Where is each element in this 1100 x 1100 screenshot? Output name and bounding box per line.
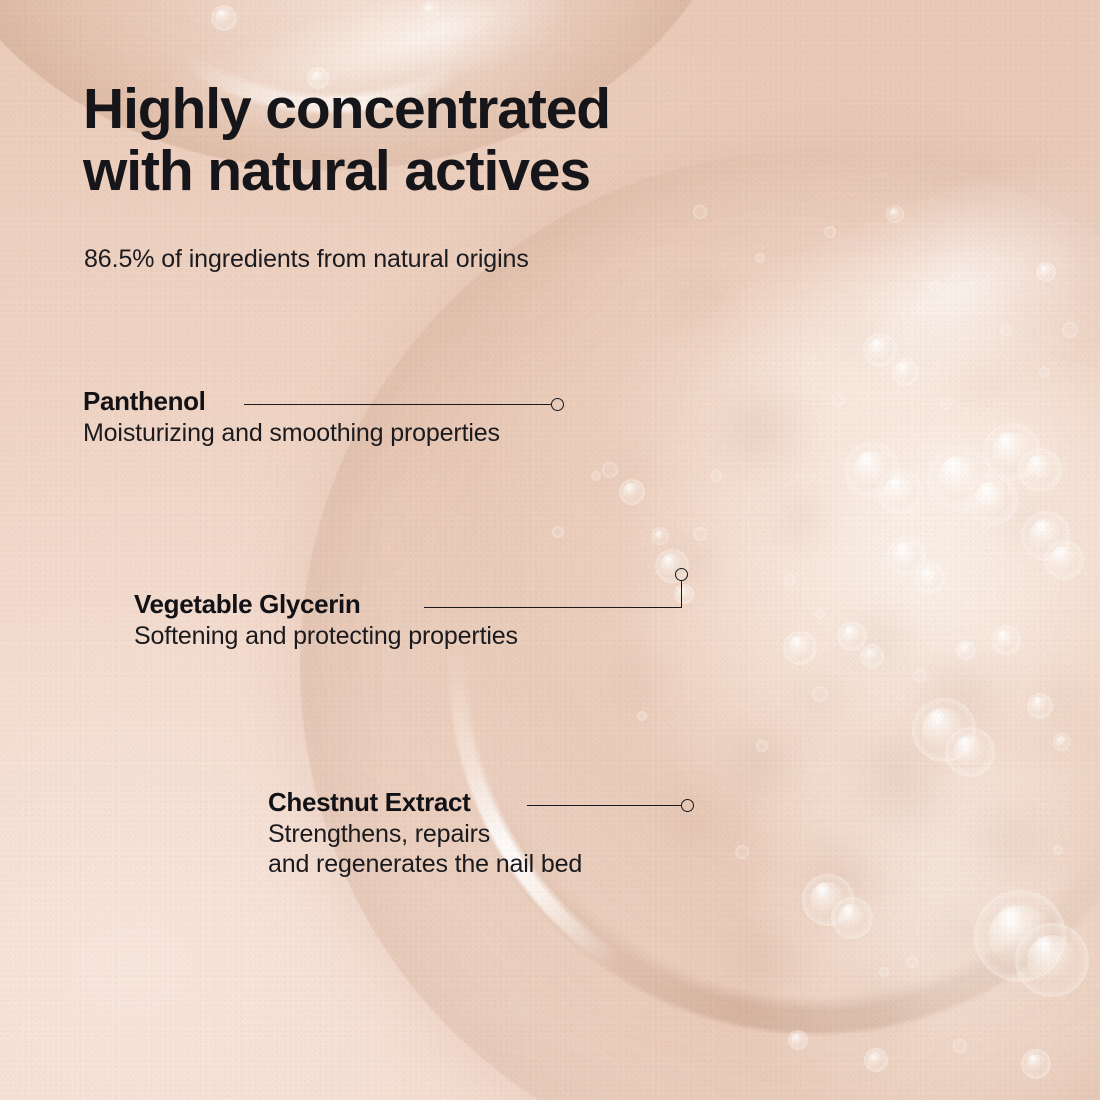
callout-panthenol: Panthenol Moisturizing and smoothing pro…: [83, 386, 500, 448]
content-overlay: Highly concentrated with natural actives…: [0, 0, 1100, 1100]
leader-endpoint-panthenol: [551, 398, 564, 411]
callout-vegetable-glycerin: Vegetable Glycerin Softening and protect…: [134, 589, 518, 651]
infographic-canvas: Highly concentrated with natural actives…: [0, 0, 1100, 1100]
leader-endpoint-vegetable-glycerin: [675, 568, 688, 581]
callout-vegetable-glycerin-description: Softening and protecting properties: [134, 621, 518, 651]
page-subtitle: 86.5% of ingredients from natural origin…: [84, 244, 529, 275]
callout-vegetable-glycerin-name: Vegetable Glycerin: [134, 589, 360, 619]
leader-line-vegetable-glycerin-vertical: [681, 581, 682, 608]
leader-line-chestnut-extract-horizontal: [527, 805, 682, 806]
leader-line-vegetable-glycerin-horizontal: [424, 607, 682, 608]
leader-line-panthenol-horizontal: [244, 404, 551, 405]
callout-chestnut-extract-description: Strengthens, repairs and regenerates the…: [268, 819, 582, 879]
callout-panthenol-name: Panthenol: [83, 386, 206, 416]
page-title: Highly concentrated with natural actives: [83, 78, 610, 202]
callout-panthenol-description: Moisturizing and smoothing properties: [83, 418, 500, 448]
callout-chestnut-extract-name: Chestnut Extract: [268, 787, 470, 817]
callout-chestnut-extract: Chestnut Extract Strengthens, repairs an…: [268, 787, 582, 879]
leader-endpoint-chestnut-extract: [681, 799, 694, 812]
